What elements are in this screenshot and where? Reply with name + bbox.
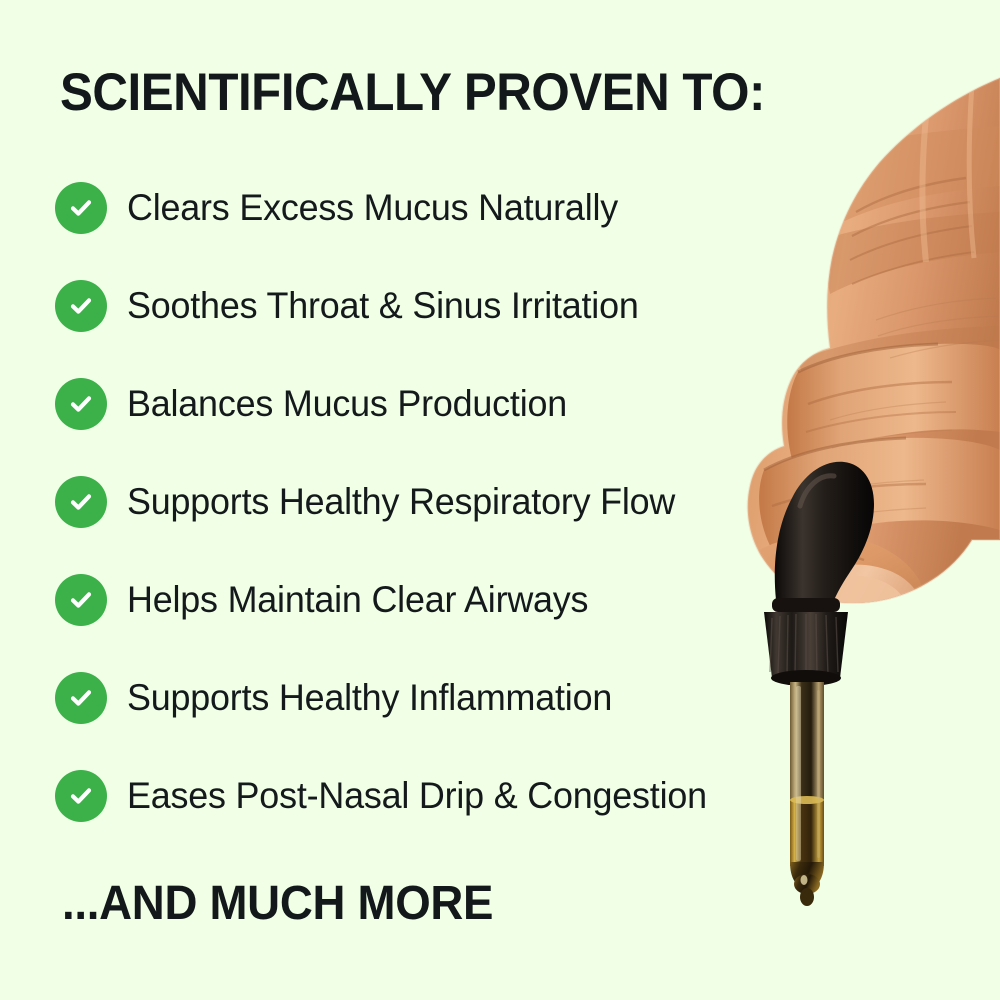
check-circle-icon bbox=[55, 574, 107, 626]
and-much-more-text: ...AND MUCH MORE bbox=[62, 880, 493, 928]
benefit-item: Clears Excess Mucus Naturally bbox=[55, 181, 633, 235]
benefit-label: Balances Mucus Production bbox=[127, 383, 567, 425]
hand-holding-dropper-photo bbox=[680, 0, 1000, 960]
check-circle-icon bbox=[55, 770, 107, 822]
benefit-item: Supports Healthy Inflammation bbox=[55, 671, 627, 725]
check-circle-icon bbox=[55, 672, 107, 724]
benefit-item: Eases Post-Nasal Drip & Congestion bbox=[55, 769, 725, 823]
benefit-label: Eases Post-Nasal Drip & Congestion bbox=[127, 775, 707, 817]
benefit-label: Soothes Throat & Sinus Irritation bbox=[127, 285, 639, 327]
check-circle-icon bbox=[55, 280, 107, 332]
benefit-label: Supports Healthy Inflammation bbox=[127, 677, 612, 719]
promo-poster: SCIENTIFICALLY PROVEN TO: Clears Excess … bbox=[0, 0, 1000, 1000]
check-circle-icon bbox=[55, 378, 107, 430]
benefit-item: Soothes Throat & Sinus Irritation bbox=[55, 279, 654, 333]
benefit-item: Balances Mucus Production bbox=[55, 377, 581, 431]
benefit-label: Clears Excess Mucus Naturally bbox=[127, 187, 618, 229]
benefit-label: Supports Healthy Respiratory Flow bbox=[127, 481, 675, 523]
benefit-item: Helps Maintain Clear Airways bbox=[55, 573, 603, 627]
benefit-item: Supports Healthy Respiratory Flow bbox=[55, 475, 692, 529]
check-circle-icon bbox=[55, 476, 107, 528]
check-circle-icon bbox=[55, 182, 107, 234]
benefit-label: Helps Maintain Clear Airways bbox=[127, 579, 588, 621]
page-title: SCIENTIFICALLY PROVEN TO: bbox=[60, 66, 765, 119]
